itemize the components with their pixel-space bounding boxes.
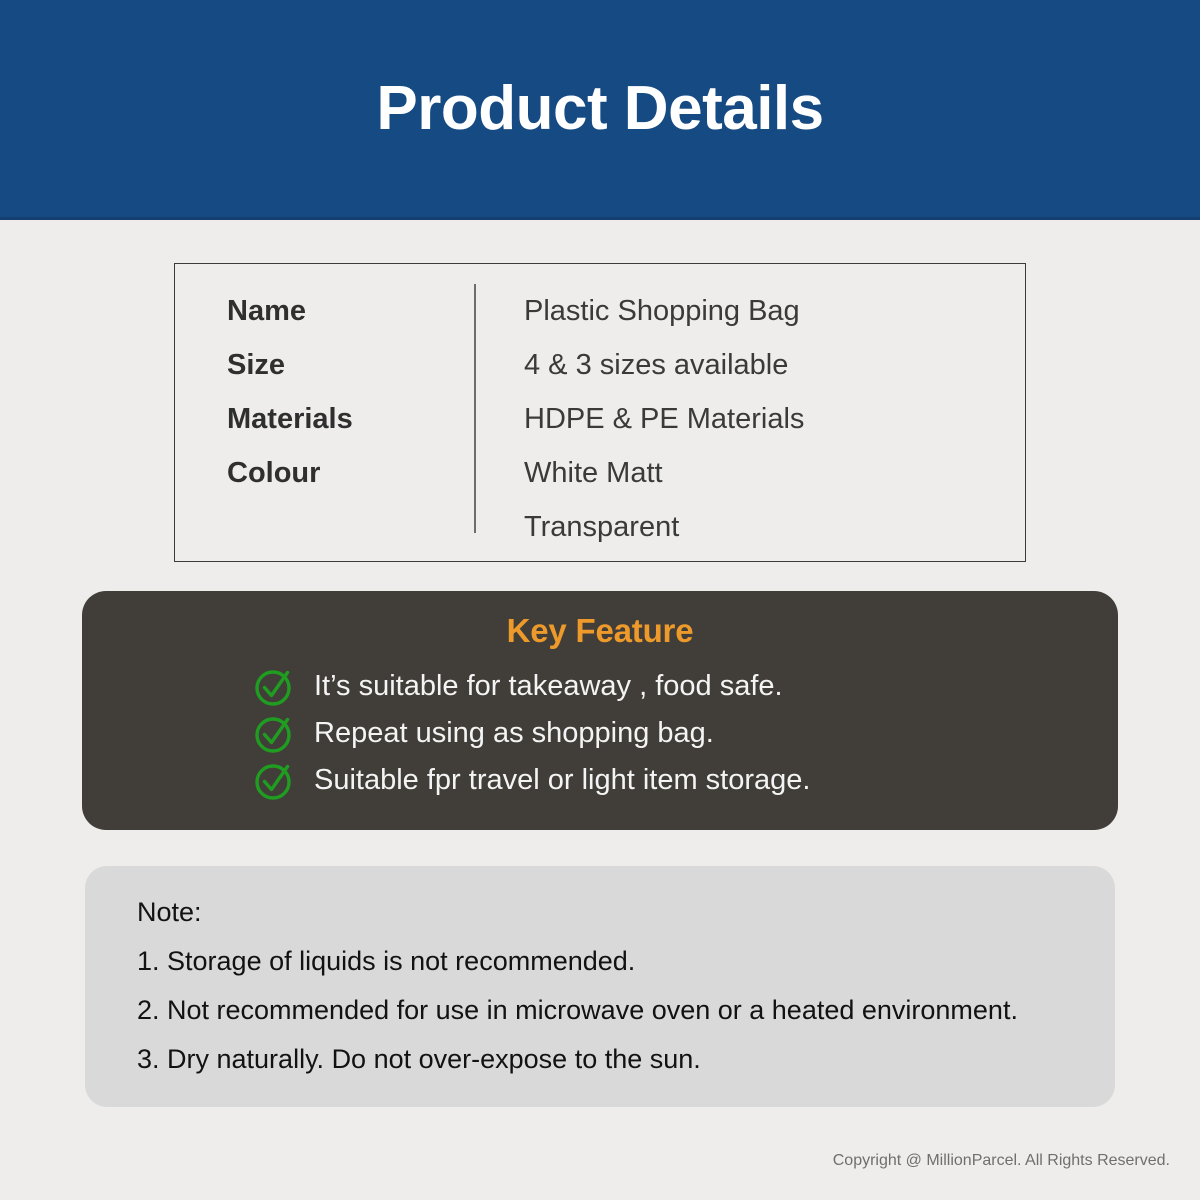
table-row-label: Materials bbox=[227, 392, 474, 446]
table-row-value-extra: Transparent bbox=[524, 500, 1025, 554]
key-feature-list: It’s suitable for takeaway , food safe. … bbox=[82, 663, 1118, 804]
list-item-label: Suitable fpr travel or light item storag… bbox=[314, 764, 810, 797]
list-item-label: Repeat using as shopping bag. bbox=[314, 717, 714, 750]
page-title: Product Details bbox=[376, 78, 823, 140]
list-item: Repeat using as shopping bag. bbox=[82, 710, 1118, 757]
table-row-value: Plastic Shopping Bag bbox=[524, 284, 1025, 338]
product-spec-table: Name Size Materials Colour Plastic Shopp… bbox=[174, 263, 1026, 562]
spec-label-column: Name Size Materials Colour bbox=[175, 264, 474, 561]
note-line: 2. Not recommended for use in microwave … bbox=[137, 986, 1115, 1035]
table-row-value: White Matt bbox=[524, 446, 1025, 500]
note-line: 3. Dry naturally. Do not over-expose to … bbox=[137, 1035, 1115, 1084]
page-header: Product Details bbox=[0, 0, 1200, 220]
check-circle-icon bbox=[252, 759, 296, 803]
list-item-label: It’s suitable for takeaway , food safe. bbox=[314, 670, 783, 703]
table-row-value: HDPE & PE Materials bbox=[524, 392, 1025, 446]
table-column-divider bbox=[474, 284, 476, 533]
note-heading: Note: bbox=[137, 888, 1115, 937]
note-panel: Note: 1. Storage of liquids is not recom… bbox=[85, 866, 1115, 1107]
key-feature-title: Key Feature bbox=[82, 607, 1118, 655]
check-circle-icon bbox=[252, 665, 296, 709]
spec-value-column: Plastic Shopping Bag 4 & 3 sizes availab… bbox=[474, 264, 1025, 561]
list-item: It’s suitable for takeaway , food safe. bbox=[82, 663, 1118, 710]
note-line: 1. Storage of liquids is not recommended… bbox=[137, 937, 1115, 986]
table-row-label: Name bbox=[227, 284, 474, 338]
table-row-value: 4 & 3 sizes available bbox=[524, 338, 1025, 392]
table-row-label: Colour bbox=[227, 446, 474, 500]
check-circle-icon bbox=[252, 712, 296, 756]
table-row-label: Size bbox=[227, 338, 474, 392]
key-feature-panel: Key Feature It’s suitable for takeaway ,… bbox=[82, 591, 1118, 830]
list-item: Suitable fpr travel or light item storag… bbox=[82, 757, 1118, 804]
footer-copyright: Copyright @ MillionParcel. All Rights Re… bbox=[833, 1152, 1170, 1170]
